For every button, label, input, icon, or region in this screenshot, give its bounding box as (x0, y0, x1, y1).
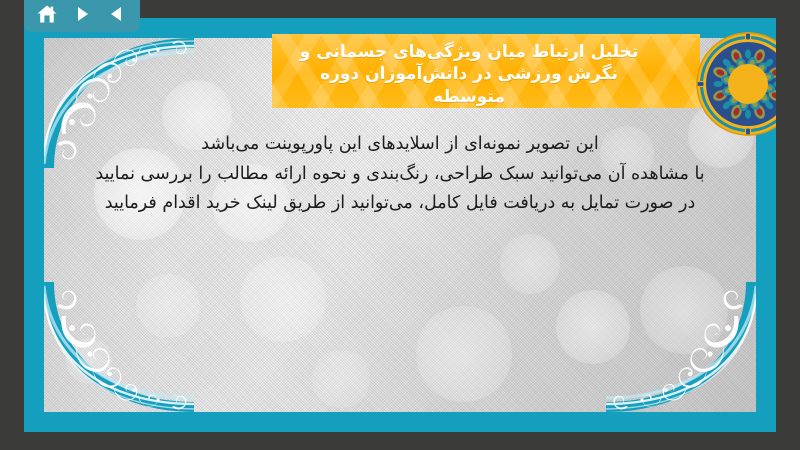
bokeh-circle (312, 350, 370, 408)
bokeh-circle (556, 290, 630, 364)
bokeh-circle (640, 266, 728, 354)
body-line: این تصویر نمونه‌ای از اسلایدهای این پاور… (58, 136, 742, 154)
slide-navigation-bar (24, 0, 140, 32)
body-line: در صورت تمایل به دریافت فایل کامل، می‌تو… (58, 195, 742, 213)
slide-canvas: تحلیل ارتباط میان ویژگی‌های جسمانی و نگر… (24, 18, 776, 432)
bokeh-circle (500, 234, 560, 294)
slide-body-text: این تصویر نمونه‌ای از اسلایدهای این پاور… (58, 136, 742, 225)
home-icon (36, 4, 58, 24)
slide-viewer: تحلیل ارتباط میان ویژگی‌های جسمانی و نگر… (0, 0, 800, 450)
bokeh-circle (66, 338, 112, 384)
bokeh-circle (240, 256, 326, 342)
bokeh-circle (136, 274, 200, 338)
home-button[interactable] (34, 1, 60, 27)
page-title: تحلیل ارتباط میان ویژگی‌های جسمانی و نگر… (272, 34, 700, 108)
body-line: با مشاهده آن می‌توانید سبک طراحی، رنگ‌بن… (58, 166, 742, 184)
slide-title-banner: تحلیل ارتباط میان ویژگی‌های جسمانی و نگر… (272, 34, 700, 108)
forward-button[interactable] (69, 1, 95, 27)
forward-triangle-icon (72, 4, 92, 24)
persian-mandala-icon (696, 32, 776, 136)
bokeh-circle (416, 306, 512, 402)
back-triangle-icon (107, 4, 127, 24)
back-button[interactable] (104, 1, 130, 27)
